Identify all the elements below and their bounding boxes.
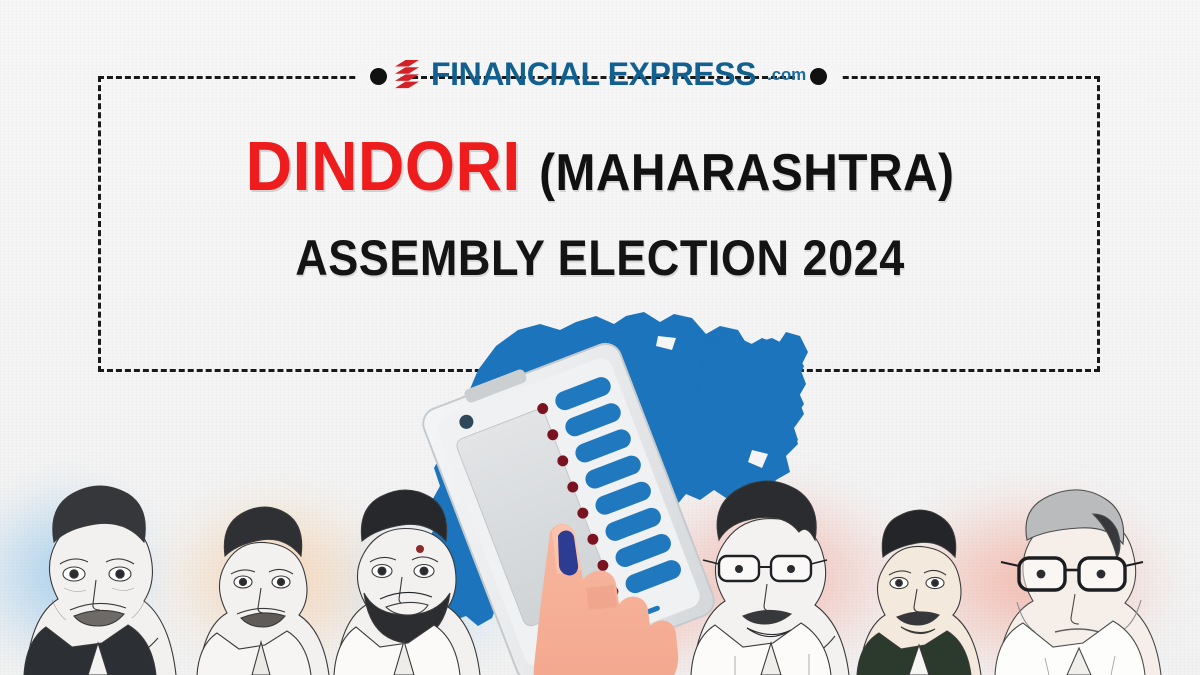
politician-portrait-strip [0, 465, 1200, 675]
state-name: (MAHARASHTRA) [539, 144, 954, 202]
constituency-name: DINDORI [246, 127, 521, 205]
portrait-devendra-fadnavis [8, 470, 198, 675]
portrait-names-list: Devendra Fadnavis Ajit Pawar Eknath Shin… [0, 0, 1, 1]
financial-express-diamond-mark-icon [394, 59, 420, 89]
headline-block: DINDORI (MAHARASHTRA) ASSEMBLY ELECTION … [0, 128, 1200, 285]
portrait-eknath-shinde [320, 475, 500, 675]
election-poster: FINANCIAL EXPRESS .com DINDORI (MAHARASH… [0, 0, 1200, 675]
headline-subtitle: ASSEMBLY ELECTION 2024 [60, 231, 1140, 285]
publisher-domain-suffix: .com [767, 66, 806, 83]
publisher-masthead[interactable]: FINANCIAL EXPRESS .com [0, 58, 1200, 90]
portrait-sharad-pawar [975, 470, 1190, 675]
publisher-name: FINANCIAL EXPRESS [431, 58, 756, 90]
headline-line-constituency: DINDORI (MAHARASHTRA) [48, 128, 1152, 211]
